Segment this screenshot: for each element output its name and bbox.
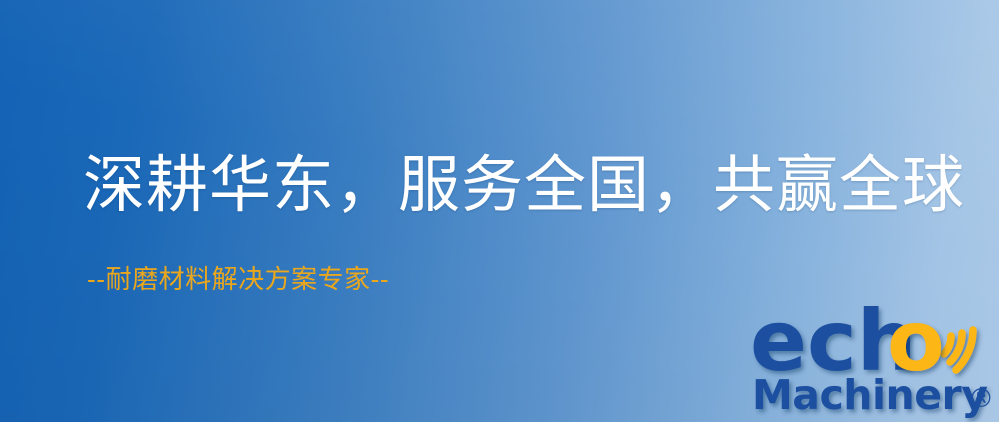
promo-banner: 深耕华东，服务全国，共赢全球 --耐磨材料解决方案专家-- ech o Mach… bbox=[0, 0, 999, 422]
banner-subheadline: --耐磨材料解决方案专家-- bbox=[87, 266, 389, 295]
logo-registered-trademark-icon: ® bbox=[968, 384, 994, 414]
echo-signal-arcs-icon bbox=[944, 330, 973, 370]
logo-tagline: Machinery bbox=[752, 371, 987, 419]
echo-machinery-logo[interactable]: ech o Machinery ® bbox=[744, 292, 999, 422]
banner-headline: 深耕华东，服务全国，共赢全球 bbox=[83, 152, 965, 218]
